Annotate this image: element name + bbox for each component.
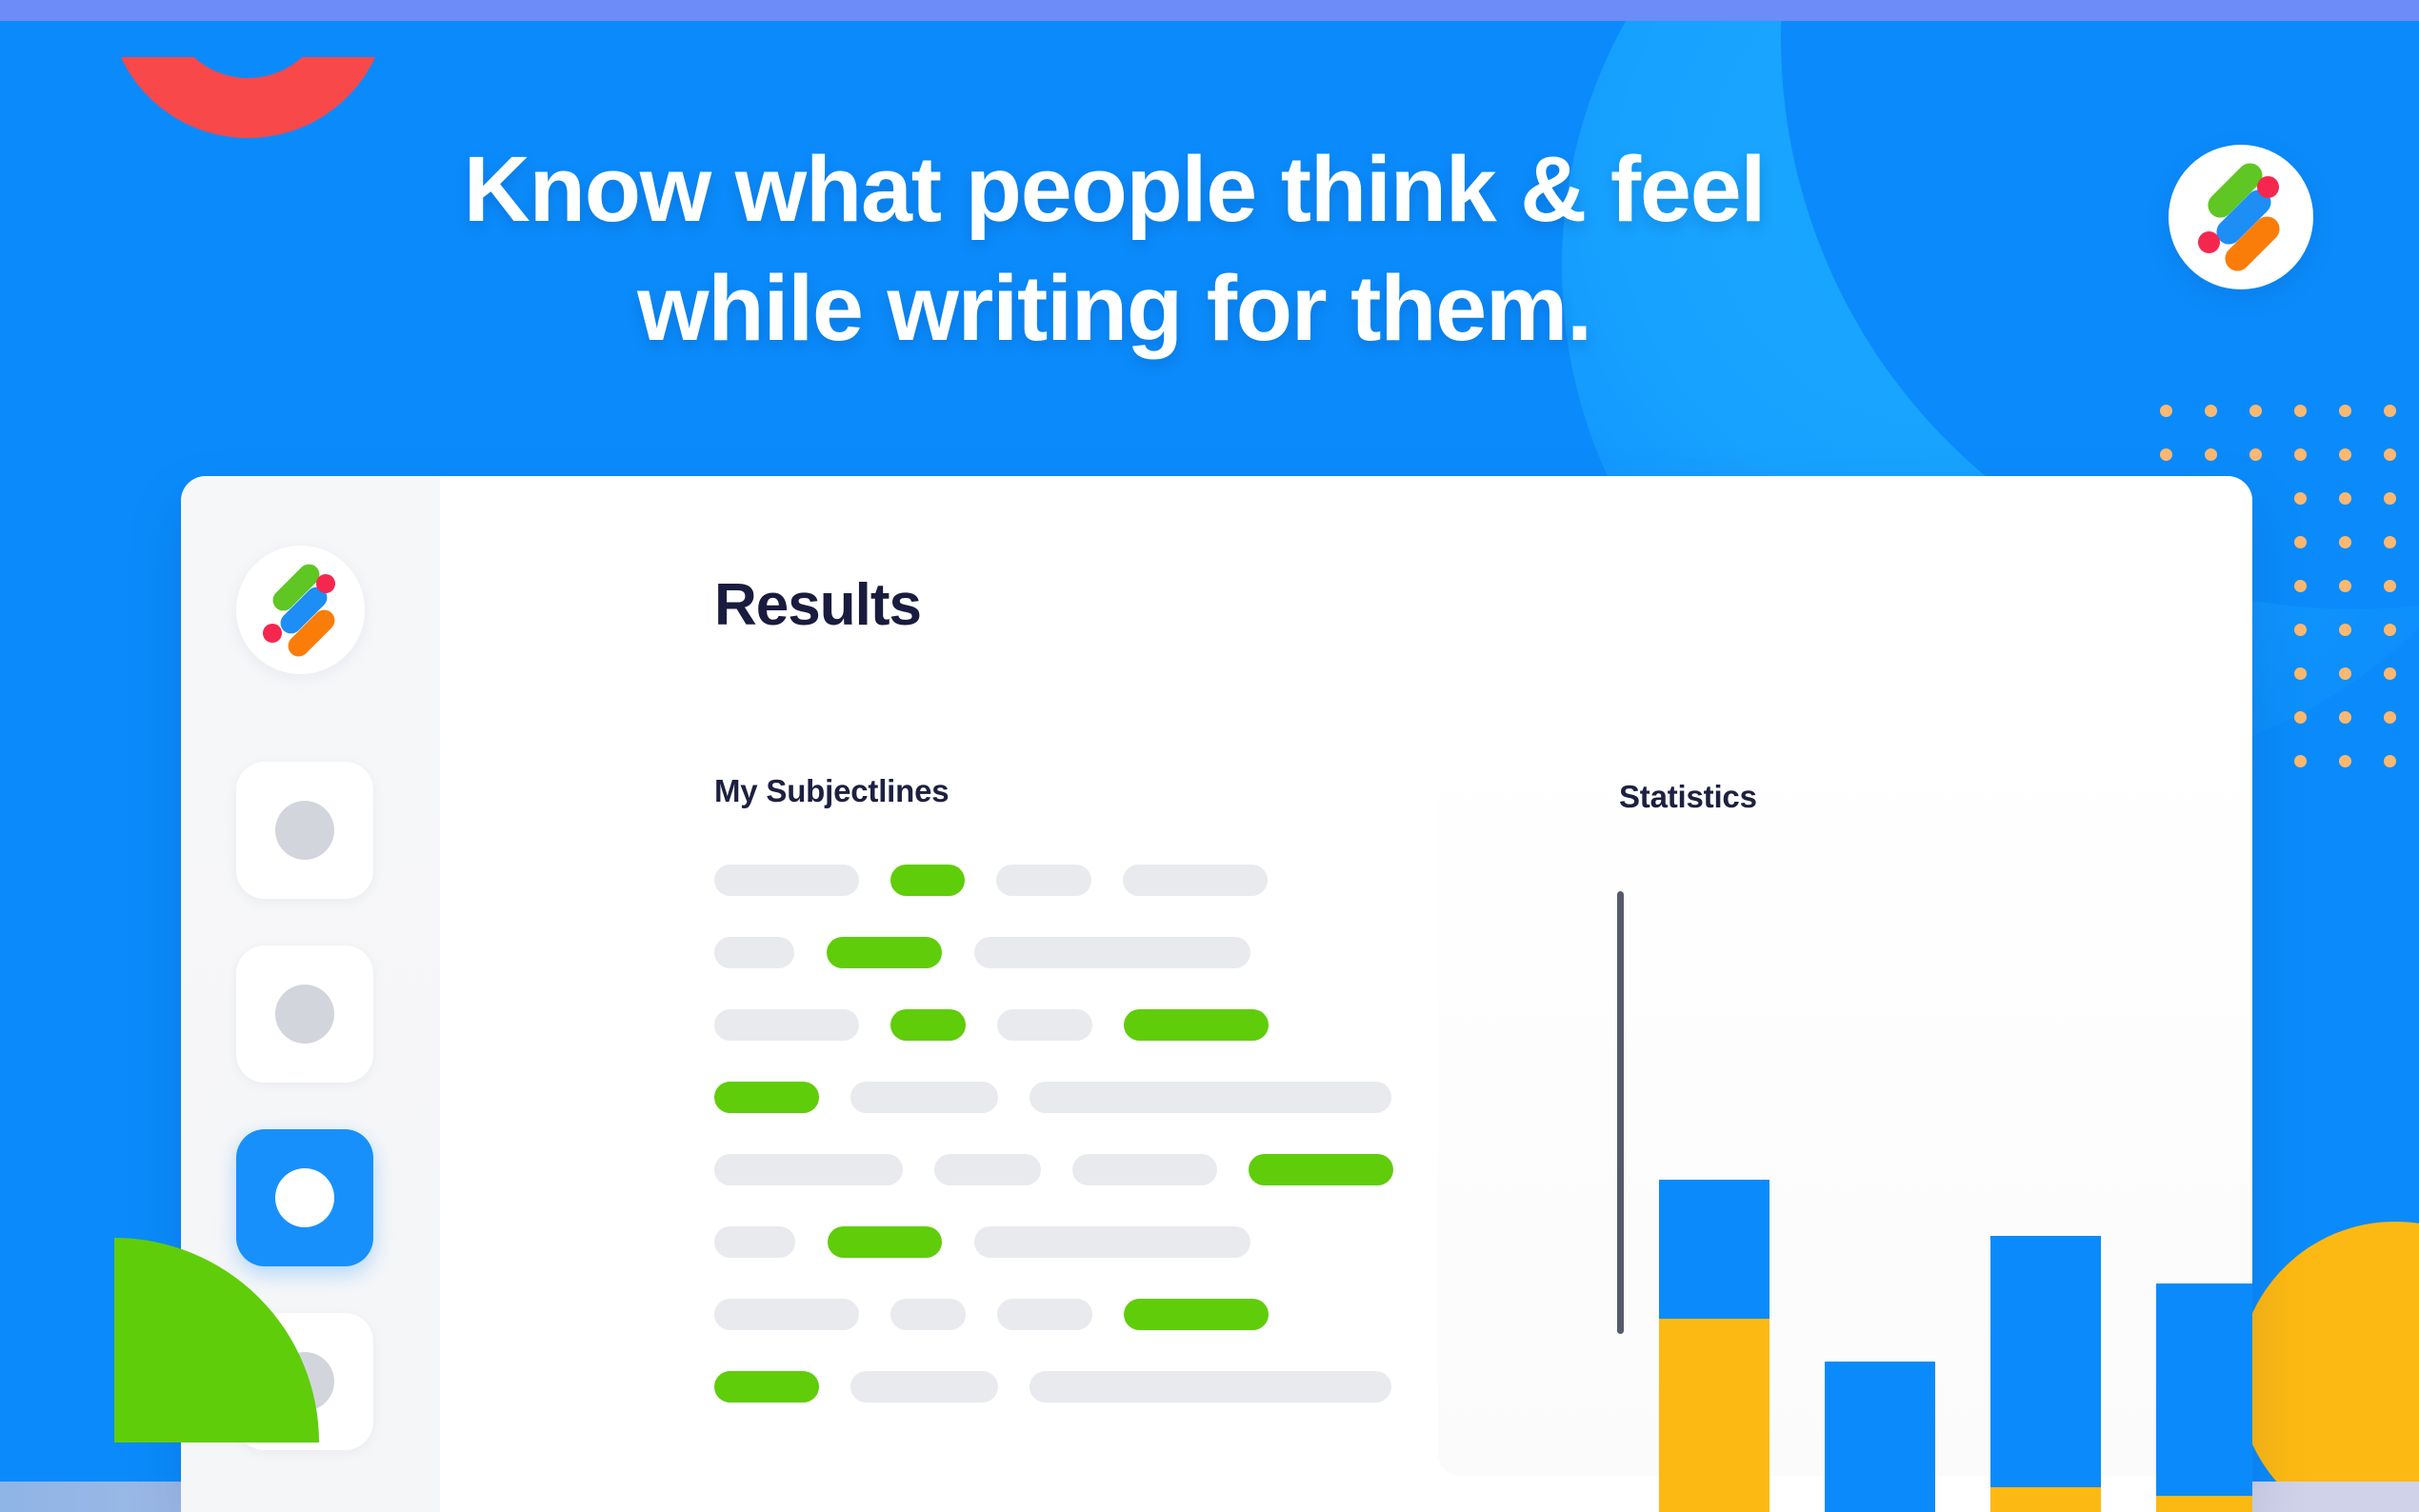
subjectline-row[interactable] xyxy=(714,865,1438,896)
decorative-dot-icon xyxy=(2294,492,2307,505)
subjectline-placeholder-pill xyxy=(997,1009,1092,1041)
subjectline-highlight-pill xyxy=(828,1226,942,1258)
decorative-dot-icon xyxy=(2294,405,2307,417)
dot-grid-row xyxy=(2294,755,2396,767)
subjectline-placeholder-pill xyxy=(934,1154,1041,1185)
decorative-dot-icon xyxy=(2339,580,2351,592)
chart-bar-blue-segment xyxy=(1990,1236,2101,1487)
sidebar-item-2-icon xyxy=(275,985,334,1044)
chart-y-axis xyxy=(1617,891,1624,1334)
chart-bar-column xyxy=(2156,1180,2252,1512)
decorative-dot-icon xyxy=(2160,448,2172,461)
chart-bar-yellow-segment xyxy=(2156,1496,2252,1512)
dot-grid-row xyxy=(2160,448,2396,461)
decorative-dot-icon xyxy=(2294,755,2307,767)
subjectline-row[interactable] xyxy=(714,1299,1438,1330)
hero-headline: Know what people think & feel while writ… xyxy=(0,143,2229,356)
subjectline-row[interactable] xyxy=(714,1154,1438,1185)
dot-grid-row xyxy=(2294,667,2396,680)
sidebar-item-1-icon xyxy=(275,801,334,860)
logo-red-dot-top-icon xyxy=(2257,176,2279,198)
sidebar-item-1[interactable] xyxy=(236,762,373,899)
dot-grid-row xyxy=(2294,624,2396,636)
decorative-dot-icon xyxy=(2339,624,2351,636)
decorative-dot-icon xyxy=(2339,667,2351,680)
subjectline-row[interactable] xyxy=(714,1226,1438,1258)
sidebar-item-3-icon xyxy=(275,1168,334,1227)
decorative-dot-icon xyxy=(2384,711,2396,724)
subjectline-placeholder-pill xyxy=(850,1371,998,1403)
dot-grid-row xyxy=(2294,711,2396,724)
subjectline-placeholder-pill xyxy=(714,865,859,896)
app-window-card: Results My Subjectlines Statistics xyxy=(181,476,2252,1512)
app-main-content: Results My Subjectlines Statistics xyxy=(440,476,2252,1512)
decorative-dot-icon xyxy=(2339,492,2351,505)
subjectline-placeholder-pill xyxy=(714,1226,795,1258)
subjectline-placeholder-pill xyxy=(1030,1371,1391,1403)
decorative-dot-icon xyxy=(2294,536,2307,548)
dot-grid-row xyxy=(2294,536,2396,548)
chart-bars-group xyxy=(1659,1180,2252,1512)
chart-bar-blue-segment xyxy=(2156,1283,2252,1496)
subjectline-placeholder-pill xyxy=(714,1299,859,1330)
chart-bar-blue-segment xyxy=(1825,1362,1935,1512)
decorative-dot-icon xyxy=(2384,536,2396,548)
subjectline-row[interactable] xyxy=(714,1009,1438,1041)
subjectline-placeholder-pill xyxy=(974,1226,1250,1258)
subjectline-placeholder-pill xyxy=(890,1299,966,1330)
subjectline-highlight-pill xyxy=(714,1371,819,1403)
sidebar-item-3[interactable] xyxy=(236,1129,373,1266)
decorative-dot-icon xyxy=(2294,448,2307,461)
decorative-dot-icon xyxy=(2249,448,2262,461)
subjectline-highlight-pill xyxy=(890,1009,966,1041)
chart-bar-yellow-segment xyxy=(1990,1487,2101,1512)
subjectline-placeholder-pill xyxy=(714,1154,903,1185)
panels-container: My Subjectlines Statistics xyxy=(714,714,2252,1512)
sidebar-app-logo-icon[interactable] xyxy=(236,546,365,674)
subjectline-placeholder-pill xyxy=(714,1009,859,1041)
decorative-dot-icon xyxy=(2294,711,2307,724)
decorative-dot-icon xyxy=(2339,448,2351,461)
subjectline-placeholder-pill xyxy=(1123,865,1268,896)
decorative-dot-icon xyxy=(2339,711,2351,724)
sidebar-logo-red-dot-top-icon xyxy=(316,574,335,593)
my-subjectlines-panel: My Subjectlines xyxy=(714,773,1438,1443)
subjectline-placeholder-pill xyxy=(1072,1154,1217,1185)
subjectline-row[interactable] xyxy=(714,1082,1438,1113)
statistics-heading: Statistics xyxy=(1619,779,1757,815)
subjectline-placeholder-pill xyxy=(997,1299,1092,1330)
chart-bar-blue-segment xyxy=(1659,1180,1769,1319)
headline-line-1: Know what people think & feel xyxy=(0,143,2229,237)
decorative-dot-icon xyxy=(2249,405,2262,417)
decorative-dot-icon xyxy=(2294,667,2307,680)
top-purple-strip xyxy=(0,0,2419,21)
subjectline-placeholder-pill xyxy=(996,865,1091,896)
page-title: Results xyxy=(714,571,921,639)
brand-logo-icon xyxy=(2169,145,2313,289)
statistics-bar-chart xyxy=(1617,891,2252,1177)
decorative-dot-icon xyxy=(2384,624,2396,636)
dot-grid-row xyxy=(2294,492,2396,505)
decorative-dot-icon xyxy=(2384,755,2396,767)
decorative-dot-icon xyxy=(2339,536,2351,548)
subjectline-placeholder-pill xyxy=(714,937,794,968)
dot-grid-row xyxy=(2160,405,2396,417)
chart-bar-yellow-segment xyxy=(1659,1319,1769,1512)
decorative-dot-icon xyxy=(2294,624,2307,636)
decorative-dot-icon xyxy=(2205,448,2217,461)
subjectline-placeholder-pill xyxy=(850,1082,998,1113)
decorative-dot-icon xyxy=(2384,667,2396,680)
subjectline-highlight-pill xyxy=(1124,1009,1269,1041)
chart-bar-column xyxy=(1990,1180,2101,1512)
decorative-dot-icon xyxy=(2160,405,2172,417)
yellow-circle-decoration xyxy=(2238,1222,2419,1512)
sidebar-logo-red-dot-bottom-icon xyxy=(263,624,282,643)
subjectline-row[interactable] xyxy=(714,937,1438,968)
decorative-dot-icon xyxy=(2384,448,2396,461)
decorative-dot-icon xyxy=(2384,580,2396,592)
logo-red-dot-bottom-icon xyxy=(2198,231,2220,253)
subjectline-placeholder-pill xyxy=(1030,1082,1391,1113)
subjectline-highlight-pill xyxy=(827,937,942,968)
decorative-dot-icon xyxy=(2294,580,2307,592)
statistics-panel: Statistics xyxy=(1438,714,2252,1476)
subjectline-highlight-pill xyxy=(1124,1299,1269,1330)
chart-bar-column xyxy=(1659,1180,1769,1512)
subjectline-placeholder-pill xyxy=(974,937,1250,968)
decorative-dot-icon xyxy=(2205,405,2217,417)
subjectline-highlight-pill xyxy=(890,865,965,896)
headline-line-2: while writing for them. xyxy=(0,262,2229,356)
decorative-dot-icon xyxy=(2384,405,2396,417)
decorative-dot-icon xyxy=(2384,492,2396,505)
subjectlines-rows xyxy=(714,865,1438,1403)
decorative-dot-icon xyxy=(2339,405,2351,417)
chart-bar-column xyxy=(1825,1180,1935,1512)
sidebar-item-2[interactable] xyxy=(236,945,373,1083)
decorative-dot-icon xyxy=(2339,755,2351,767)
dot-grid-row xyxy=(2294,580,2396,592)
subjectline-row[interactable] xyxy=(714,1371,1438,1403)
subjectline-highlight-pill xyxy=(714,1082,819,1113)
my-subjectlines-heading: My Subjectlines xyxy=(714,773,1438,809)
subjectline-highlight-pill xyxy=(1249,1154,1393,1185)
